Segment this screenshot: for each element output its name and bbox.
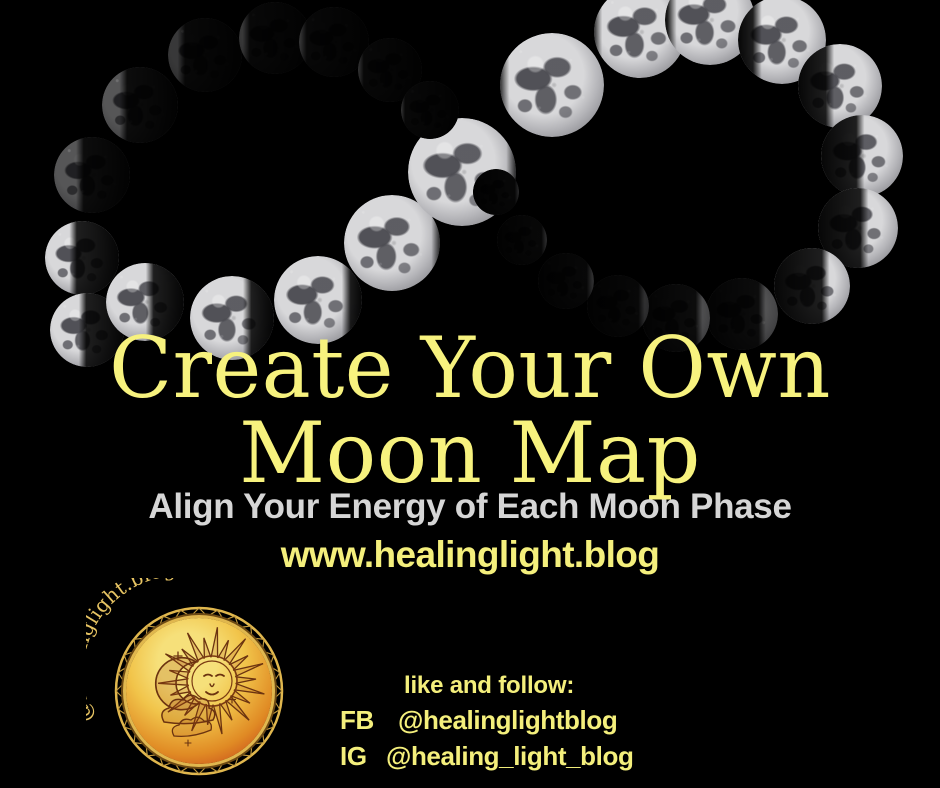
moon-texture <box>102 67 178 143</box>
moon-disc <box>54 137 130 213</box>
moon-disc <box>401 81 459 139</box>
moon-disc <box>497 215 547 265</box>
social-network-instagram: IG <box>340 741 386 772</box>
moon-phase-right-loop-2 <box>665 0 755 65</box>
moon-terminator-shadow <box>774 248 850 324</box>
moon-disc <box>821 115 903 197</box>
moon-texture <box>45 221 119 295</box>
moon-terminator-shadow <box>473 169 519 215</box>
page-title-line-2: Moon Map <box>0 413 940 494</box>
moon-texture <box>168 18 242 92</box>
moon-phase-left-loop-9 <box>168 18 242 92</box>
moon-disc <box>239 2 311 74</box>
moon-terminator-shadow <box>821 115 903 197</box>
headline-block: Create Your Own Moon Map <box>0 328 940 493</box>
moon-texture <box>738 0 826 84</box>
moon-disc <box>665 0 755 65</box>
moon-terminator-shadow <box>738 0 826 84</box>
social-heading: like and follow: <box>404 672 760 700</box>
moon-terminator-shadow <box>54 137 130 213</box>
social-row-instagram[interactable]: IG @healing_light_blog <box>340 741 760 772</box>
social-block: like and follow: FB @healinglightblog IG… <box>340 672 760 772</box>
moon-phase-left-loop-12 <box>358 38 422 102</box>
moon-disc <box>594 0 686 78</box>
moon-terminator-shadow <box>168 18 242 92</box>
moon-phase-right-loop-6 <box>818 188 898 268</box>
moon-terminator-shadow <box>497 215 547 265</box>
moon-terminator-shadow <box>102 67 178 143</box>
moon-texture <box>239 2 311 74</box>
moon-texture <box>401 81 459 139</box>
moon-phase-left-loop-1 <box>45 221 119 295</box>
social-handle-facebook[interactable]: @healinglightblog <box>398 705 617 736</box>
moon-disc <box>738 0 826 84</box>
moon-disc <box>344 195 440 291</box>
moon-terminator-shadow <box>798 44 882 128</box>
moon-phase-right-loop-5 <box>821 115 903 197</box>
moon-disc <box>774 248 850 324</box>
moon-terminator-shadow <box>239 2 311 74</box>
moon-phase-left-loop-13 <box>401 81 459 139</box>
moon-texture <box>798 44 882 128</box>
moon-disc <box>299 7 369 77</box>
moon-disc <box>538 253 594 309</box>
social-handle-instagram[interactable]: @healing_light_blog <box>386 741 633 772</box>
moon-phase-right-loop-12 <box>497 215 547 265</box>
social-network-facebook: FB <box>340 705 398 736</box>
page-subtitle: Align Your Energy of Each Moon Phase <box>0 487 940 527</box>
moon-terminator-shadow <box>344 195 440 291</box>
moon-terminator-shadow <box>45 221 119 295</box>
moon-disc <box>500 33 604 137</box>
moon-terminator-shadow <box>401 81 459 139</box>
moon-phase-infinity-graphic <box>0 0 940 360</box>
moon-texture <box>497 215 547 265</box>
moon-phase-right-loop-3 <box>738 0 826 84</box>
moon-terminator-shadow <box>358 38 422 102</box>
website-url[interactable]: www.healinglight.blog <box>0 534 940 576</box>
moon-texture <box>500 33 604 137</box>
moon-terminator-shadow <box>408 118 516 226</box>
moon-phase-right-loop-0 <box>500 33 604 137</box>
moon-texture <box>774 248 850 324</box>
moon-texture <box>473 169 519 215</box>
moon-texture <box>821 115 903 197</box>
moon-disc <box>473 169 519 215</box>
moon-texture <box>344 195 440 291</box>
moon-disc <box>408 118 516 226</box>
moon-texture <box>358 38 422 102</box>
moon-terminator-shadow <box>818 188 898 268</box>
moon-texture <box>408 118 516 226</box>
moon-phase-right-loop-1 <box>594 0 686 78</box>
moon-disc <box>798 44 882 128</box>
moon-texture <box>54 137 130 213</box>
moon-disc <box>358 38 422 102</box>
social-row-facebook[interactable]: FB @healinglightblog <box>340 705 760 736</box>
moon-terminator-shadow <box>538 253 594 309</box>
moon-texture <box>538 253 594 309</box>
poster-canvas: Create Your Own Moon Map Align Your Ener… <box>0 0 940 788</box>
moon-phase-left-loop-6 <box>344 195 440 291</box>
moon-phase-left-loop-0 <box>54 137 130 213</box>
moon-texture <box>299 7 369 77</box>
moon-disc <box>102 67 178 143</box>
moon-terminator-shadow <box>299 7 369 77</box>
logo-badge[interactable]: @healinglight.blog <box>86 578 302 784</box>
moon-phase-right-loop-7 <box>774 248 850 324</box>
moon-texture <box>594 0 686 78</box>
moon-texture <box>665 0 755 65</box>
page-title-line-1: Create Your Own <box>9 328 930 409</box>
moon-phase-left-loop-11 <box>299 7 369 77</box>
moon-phase-left-loop-10 <box>239 2 311 74</box>
moon-phase-left-loop-8 <box>102 67 178 143</box>
moon-texture <box>818 188 898 268</box>
moon-disc <box>168 18 242 92</box>
moon-phase-left-loop-7 <box>408 118 516 226</box>
moon-terminator-shadow <box>665 0 755 65</box>
moon-terminator-shadow <box>500 33 604 137</box>
moon-phase-right-loop-4 <box>798 44 882 128</box>
moon-phase-right-loop-13 <box>473 169 519 215</box>
moon-terminator-shadow <box>594 0 686 78</box>
moon-disc <box>45 221 119 295</box>
moon-phase-right-loop-11 <box>538 253 594 309</box>
sun-moon-face-icon <box>126 618 272 764</box>
moon-disc <box>818 188 898 268</box>
